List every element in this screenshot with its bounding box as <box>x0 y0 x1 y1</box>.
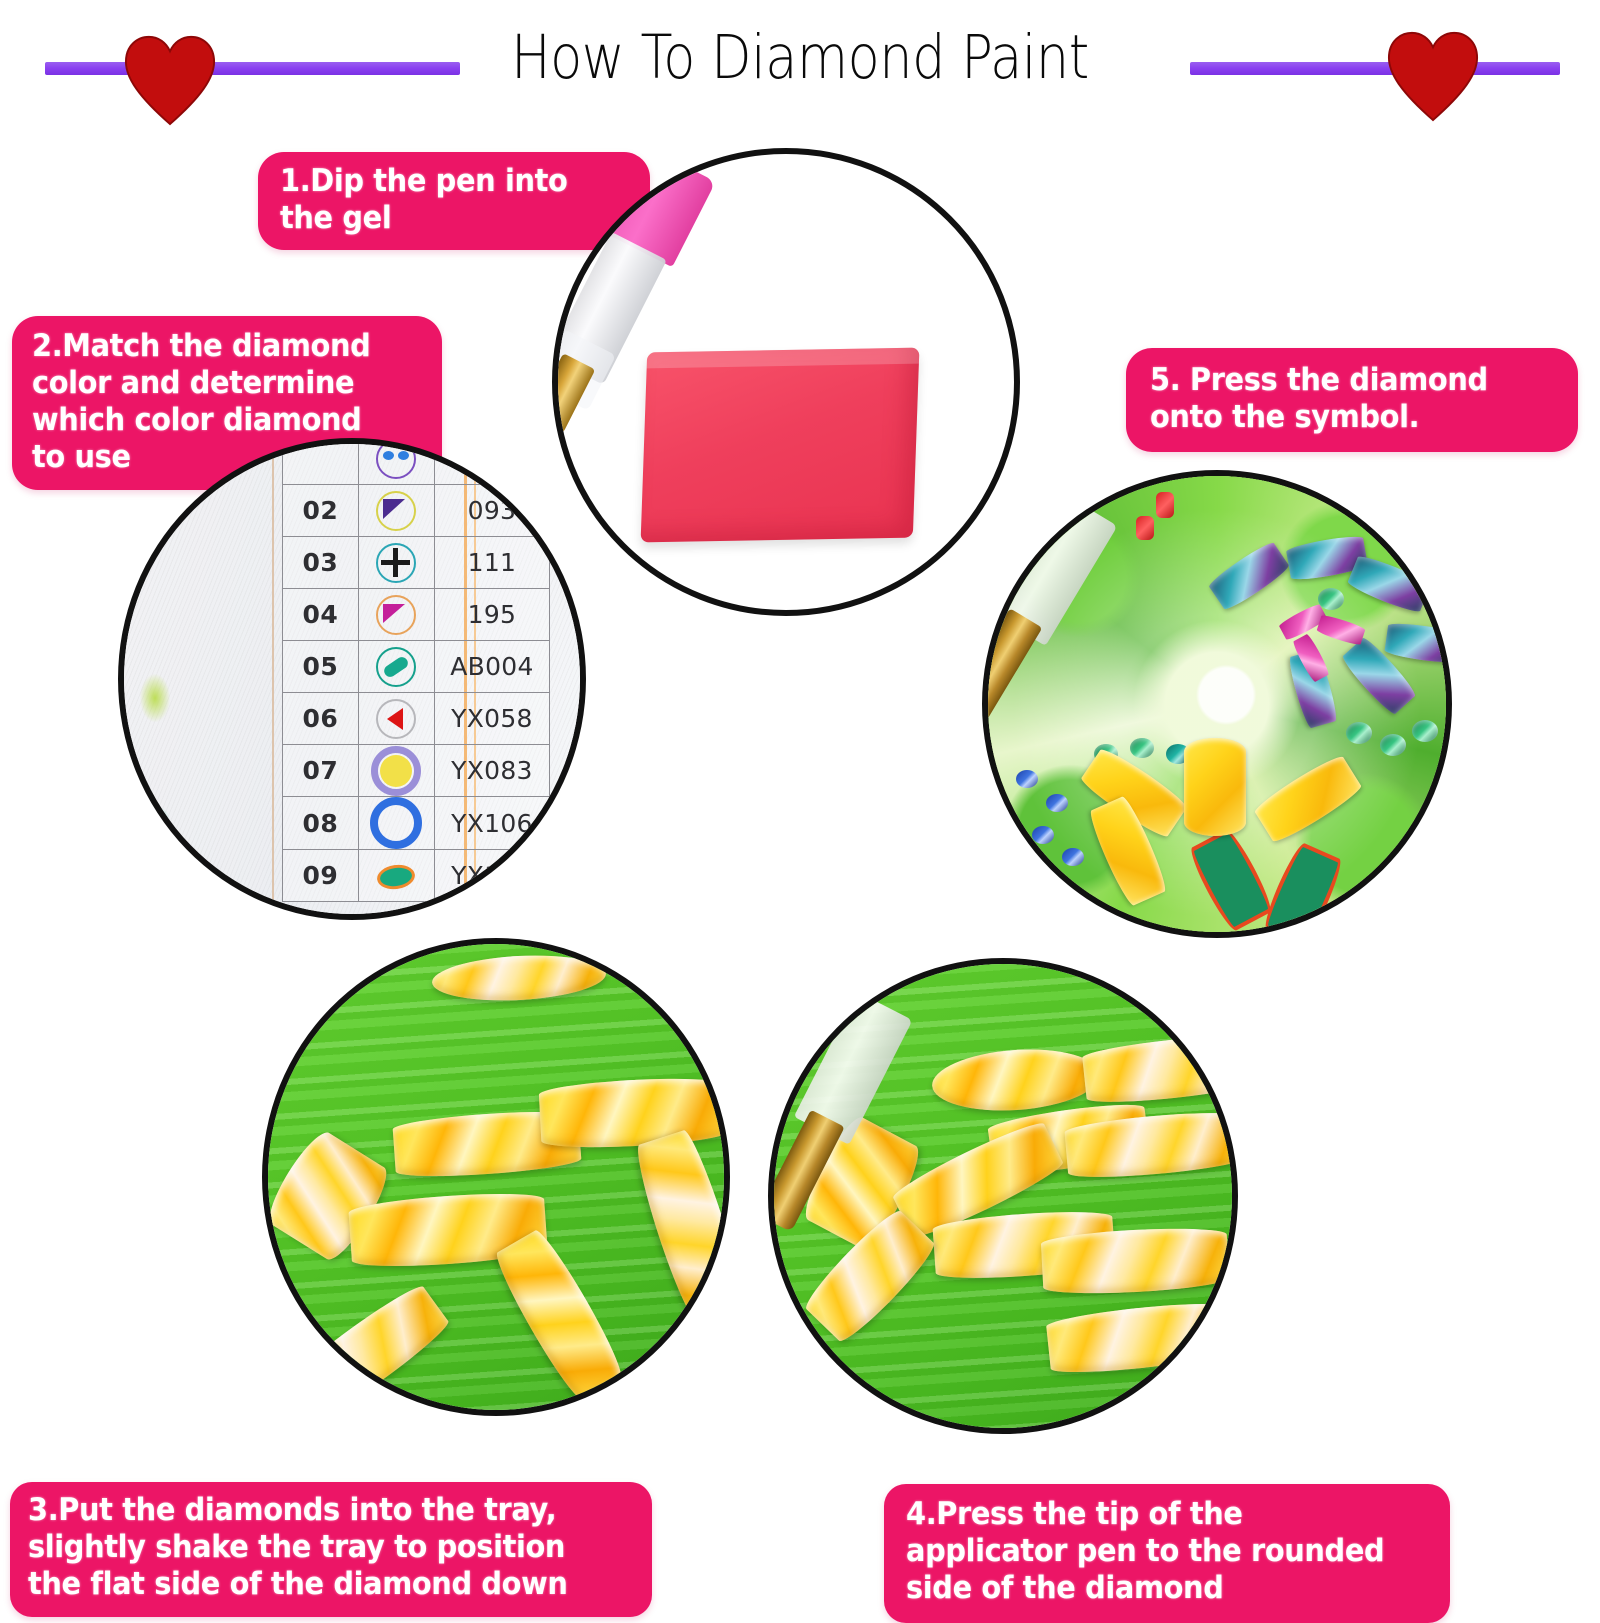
legend-code: YX106 <box>434 797 549 850</box>
legend-code: YX125 <box>434 850 549 902</box>
gel-wax-pad <box>641 348 920 543</box>
press-diamond-onto-canvas-photo <box>982 470 1452 938</box>
legend-no: 06 <box>283 693 359 745</box>
table-row: 09 YX125 <box>283 850 550 902</box>
yellow-dot-ring-symbol <box>358 745 434 797</box>
table-row: 04 195 <box>283 589 550 641</box>
table-row: 08 YX106 <box>283 797 550 850</box>
diamond-gem <box>1380 734 1406 756</box>
symbol-legend-table: 028 02 093 03 <box>282 438 550 902</box>
legend-code: 093 <box>434 485 549 537</box>
legend-no <box>283 438 359 485</box>
legend-code: 111 <box>434 537 549 589</box>
teal-capsule-symbol <box>358 641 434 693</box>
legend-code: 195 <box>434 589 549 641</box>
diamond-gem <box>1412 720 1438 742</box>
pen-picking-diamond-photo <box>768 958 1238 1434</box>
chart-margin-line <box>272 444 274 914</box>
printed-red-mark <box>1136 516 1154 540</box>
plus-cross-symbol <box>358 537 434 589</box>
green-leaf-symbol <box>358 850 434 902</box>
printed-blue-dot <box>1062 848 1084 866</box>
page-title: How To Diamond Paint <box>112 22 1488 93</box>
table-row: 02 093 <box>283 485 550 537</box>
blue-ring-symbol <box>358 797 434 850</box>
legend-no: 03 <box>283 537 359 589</box>
purple-triangle-symbol <box>358 485 434 537</box>
step-5-text: 5. Press the diamond onto the symbol. <box>1150 362 1531 436</box>
legend-no: 04 <box>283 589 359 641</box>
printed-blue-dot <box>1016 770 1038 788</box>
page-header: How To Diamond Paint <box>0 0 1600 140</box>
symbol-legend-chart-photo: 028 02 093 03 <box>118 438 586 920</box>
printed-blue-dot <box>1032 826 1054 844</box>
table-row: 06 YX058 <box>283 693 550 745</box>
chart-scene: 028 02 093 03 <box>124 444 580 914</box>
yellow-diamond-being-placed <box>1184 738 1246 836</box>
legend-no: 07 <box>283 745 359 797</box>
pen-dipped-in-gel-photo <box>552 148 1020 616</box>
canvas-green-symbol-mark <box>130 804 170 836</box>
step-3-text: 3.Put the diamonds into the tray, slight… <box>28 1492 593 1603</box>
legend-code: YX083 <box>434 745 549 797</box>
legend-no: 09 <box>283 850 359 902</box>
magenta-triangle-symbol <box>358 589 434 641</box>
legend-code: 028 <box>434 438 549 485</box>
legend-no: 05 <box>283 641 359 693</box>
diamond-gem <box>1130 738 1154 758</box>
gel-scene <box>558 154 1014 610</box>
legend-no: 08 <box>283 797 359 850</box>
step-3-label: 3.Put the diamonds into the tray, slight… <box>10 1482 652 1617</box>
step-5-label: 5. Press the diamond onto the symbol. <box>1126 348 1578 452</box>
diamonds-in-tray-photo <box>262 938 730 1416</box>
step-4-text: 4.Press the tip of the applicator pen to… <box>906 1496 1397 1607</box>
red-chevron-symbol <box>358 693 434 745</box>
diamond-gem <box>1318 588 1344 610</box>
table-row: 05 AB004 <box>283 641 550 693</box>
printed-red-mark <box>1156 492 1174 518</box>
table-row: 028 <box>283 438 550 485</box>
table-row: 07 YX083 <box>283 745 550 797</box>
legend-code: YX058 <box>434 693 549 745</box>
legend-code: AB004 <box>434 641 549 693</box>
step-4-label: 4.Press the tip of the applicator pen to… <box>884 1484 1450 1623</box>
double-dot-circle-symbol <box>358 438 434 485</box>
legend-no: 02 <box>283 485 359 537</box>
yellow-diamond <box>538 1075 729 1151</box>
printed-blue-dot <box>1046 794 1068 812</box>
table-row: 03 111 <box>283 537 550 589</box>
diamond-gem <box>1346 722 1372 744</box>
canvas-green-print-mark <box>140 674 170 722</box>
